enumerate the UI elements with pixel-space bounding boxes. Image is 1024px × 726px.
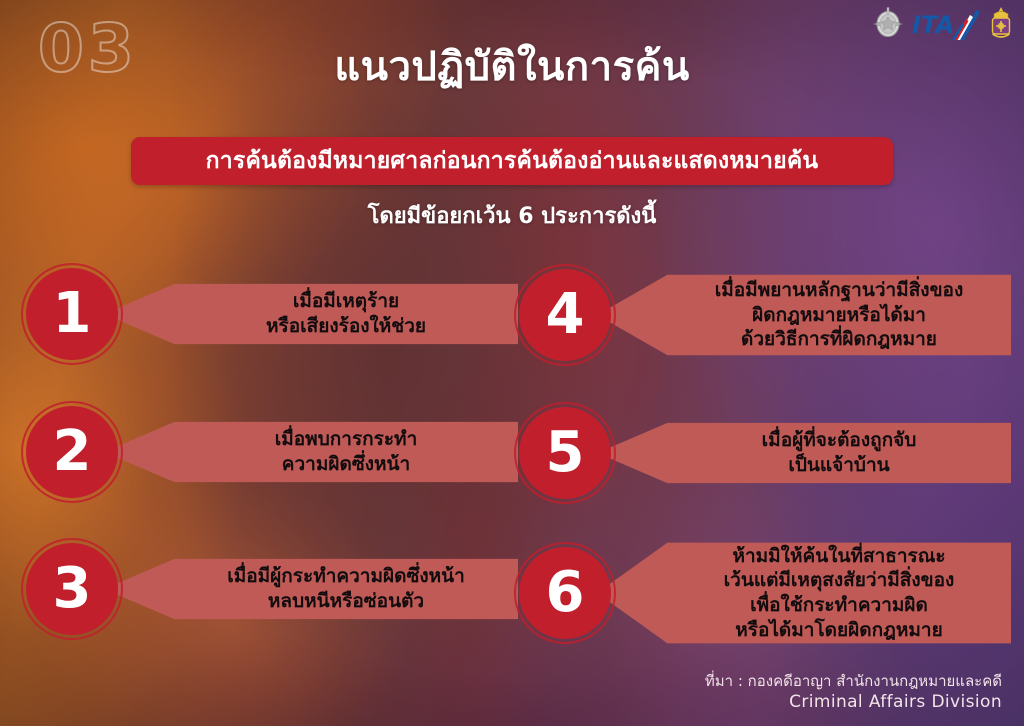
exception-text: เมื่อมีเหตุร้าย หรือเสียงร้องให้ช่วย	[266, 289, 426, 338]
infographic-canvas: 03 แนวปฏิบัติในการค้น ITA	[0, 0, 1024, 726]
badge-5: 5	[519, 407, 611, 499]
royal-crest-logo	[986, 5, 1016, 43]
exception-text: เมื่อมีพยานหลักฐานว่ามีสิ่งของ ผิดกฎหมาย…	[715, 278, 964, 352]
badge-number: 2	[53, 424, 92, 480]
credit-source: ที่มา : กองคดีอาญา สำนักงานกฎหมายและคดี	[705, 671, 1002, 691]
exception-text: ห้ามมิให้ค้นในที่สาธารณะ เว้นแต่มีเหตุสง…	[724, 544, 955, 643]
exception-item-3: 3 เมื่อมีผู้กระทำความผิดซึ่งหน้า หลบหนีห…	[26, 530, 518, 648]
arrow-callout-6: ห้ามมิให้ค้นในที่สาธารณะ เว้นแต่มีเหตุสง…	[597, 532, 1011, 655]
badge-number: 6	[546, 565, 585, 621]
badge-number: 3	[53, 561, 92, 617]
credit-block: ที่มา : กองคดีอาญา สำนักงานกฎหมายและคดี …	[705, 671, 1002, 714]
exception-item-4: 4 เมื่อมีพยานหลักฐานว่ามีสิ่งของ ผิดกฎหม…	[519, 250, 1011, 380]
government-seal-logo	[870, 5, 906, 43]
badge-6: 6	[519, 547, 611, 639]
exception-text: เมื่อพบการกระทำ ความผิดซึ่งหน้า	[275, 427, 418, 476]
exception-text: เมื่อมีผู้กระทำความผิดซึ่งหน้า หลบหนีหรื…	[227, 564, 465, 613]
exception-item-5: 5 เมื่อผู้ที่จะต้องถูกจับ เป็นแจ้าบ้าน	[519, 394, 1011, 512]
exception-item-2: 2 เมื่อพบการกระทำ ความผิดซึ่งหน้า	[26, 393, 518, 511]
header-band: 03 แนวปฏิบัติในการค้น ITA	[0, 0, 1024, 118]
arrow-callout-1: เมื่อมีเหตุร้าย หรือเสียงร้องให้ช่วย	[104, 277, 518, 350]
exceptions-column-left: 1 เมื่อมีเหตุร้าย หรือเสียงร้องให้ช่วย 2…	[26, 252, 518, 660]
subtitle: โดยมีข้อยกเว้น 6 ประการดังนี้	[0, 198, 1024, 233]
arrow-callout-5: เมื่อผู้ที่จะต้องถูกจับ เป็นแจ้าบ้าน	[597, 416, 1011, 489]
badge-3: 3	[26, 543, 118, 635]
logo-cluster: ITA	[870, 4, 1016, 44]
badge-1: 1	[26, 268, 118, 360]
arrow-callout-4: เมื่อมีพยานหลักฐานว่ามีสิ่งของ ผิดกฎหมาย…	[597, 266, 1011, 364]
ita-logo: ITA	[910, 5, 982, 43]
badge-number: 1	[53, 286, 92, 342]
credit-english: Criminal Affairs Division	[705, 691, 1002, 714]
statement-banner: การค้นต้องมีหมายศาลก่อนการค้นต้องอ่านและ…	[131, 137, 893, 185]
badge-number: 5	[546, 425, 585, 481]
statement-banner-text: การค้นต้องมีหมายศาลก่อนการค้นต้องอ่านและ…	[206, 143, 819, 179]
svg-text:ITA: ITA	[912, 11, 954, 39]
badge-2: 2	[26, 406, 118, 498]
exceptions-column-right: 4 เมื่อมีพยานหลักฐานว่ามีสิ่งของ ผิดกฎหม…	[519, 252, 1011, 660]
badge-4: 4	[519, 269, 611, 361]
badge-number: 4	[546, 287, 585, 343]
exception-text: เมื่อผู้ที่จะต้องถูกจับ เป็นแจ้าบ้าน	[762, 428, 917, 477]
exception-item-1: 1 เมื่อมีเหตุร้าย หรือเสียงร้องให้ช่วย	[26, 252, 518, 376]
exceptions-grid: 1 เมื่อมีเหตุร้าย หรือเสียงร้องให้ช่วย 2…	[0, 252, 1024, 660]
arrow-callout-2: เมื่อพบการกระทำ ความผิดซึ่งหน้า	[104, 415, 518, 488]
arrow-callout-3: เมื่อมีผู้กระทำความผิดซึ่งหน้า หลบหนีหรื…	[104, 552, 518, 625]
exception-item-6: 6 ห้ามมิให้ค้นในที่สาธารณะ เว้นแต่มีเหตุ…	[519, 528, 1011, 658]
